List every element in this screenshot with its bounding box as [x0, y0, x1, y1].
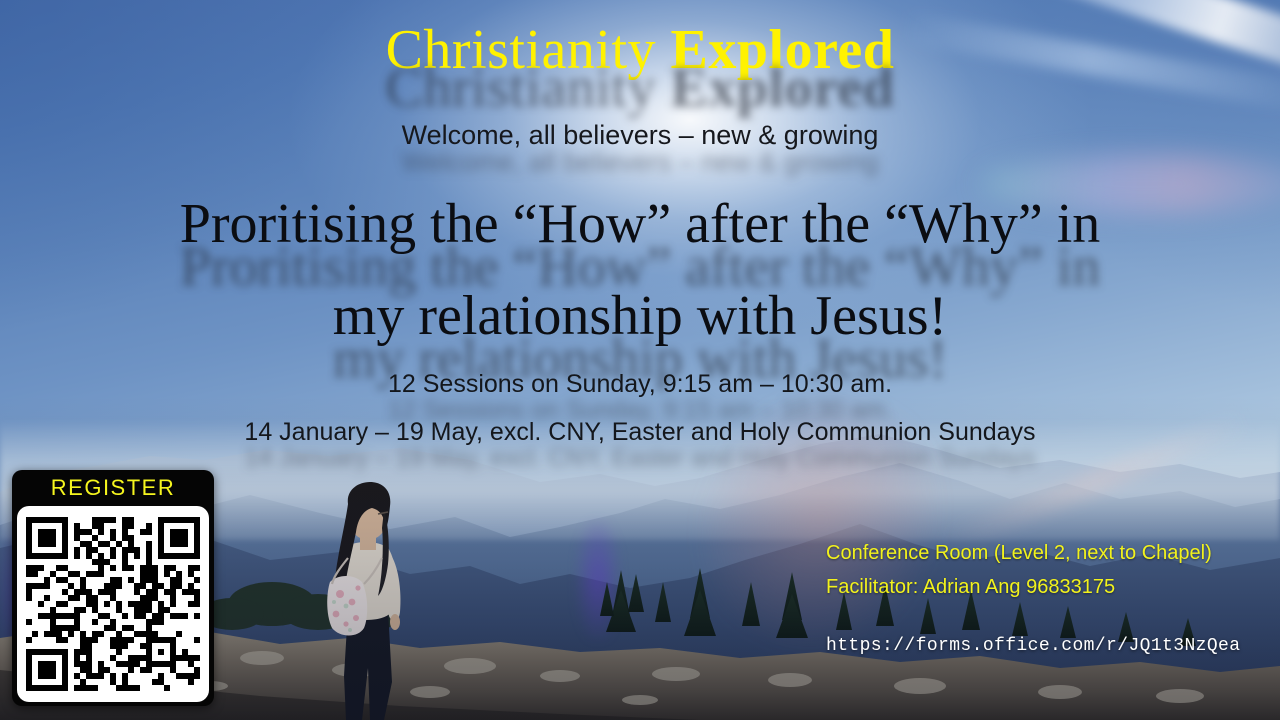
main-heading-line1: Proritising the “How” after the “Why” in…	[0, 196, 1280, 252]
welcome-line: Welcome, all believers – new & growing W…	[0, 122, 1280, 149]
venue-room: Conference Room (Level 2, next to Chapel…	[826, 543, 1212, 563]
presentation-slide: Christianity Explored Christianity Explo…	[0, 0, 1280, 720]
qr-code-container[interactable]	[17, 506, 209, 702]
main-heading-line2: my relationship with Jesus! my relations…	[0, 288, 1280, 344]
sessions-line-text: 12 Sessions on Sunday, 9:15 am – 10:30 a…	[388, 370, 892, 398]
registration-url[interactable]: https://forms.office.com/r/JQ1t3NzQea	[826, 636, 1240, 656]
venue-details: Conference Room (Level 2, next to Chapel…	[826, 543, 1212, 611]
main-heading-line2-text: my relationship with Jesus!	[333, 285, 947, 347]
dates-line-text: 14 January – 19 May, excl. CNY, Easter a…	[244, 418, 1035, 446]
slide-title: Christianity Explored Christianity Explo…	[0, 22, 1280, 78]
main-heading-line1-text: Proritising the “How” after the “Why” in	[180, 193, 1101, 255]
register-label: REGISTER	[12, 470, 214, 506]
dates-line: 14 January – 19 May, excl. CNY, Easter a…	[0, 420, 1280, 445]
welcome-line-text: Welcome, all believers – new & growing	[402, 120, 879, 150]
sessions-line: 12 Sessions on Sunday, 9:15 am – 10:30 a…	[0, 372, 1280, 397]
slide-title-part2: Explored	[671, 19, 895, 81]
qr-code[interactable]	[26, 517, 200, 691]
register-qr-card[interactable]: REGISTER	[12, 470, 214, 706]
venue-facilitator: Facilitator: Adrian Ang 96833175	[826, 577, 1212, 597]
slide-title-part1: Christianity	[386, 19, 671, 81]
